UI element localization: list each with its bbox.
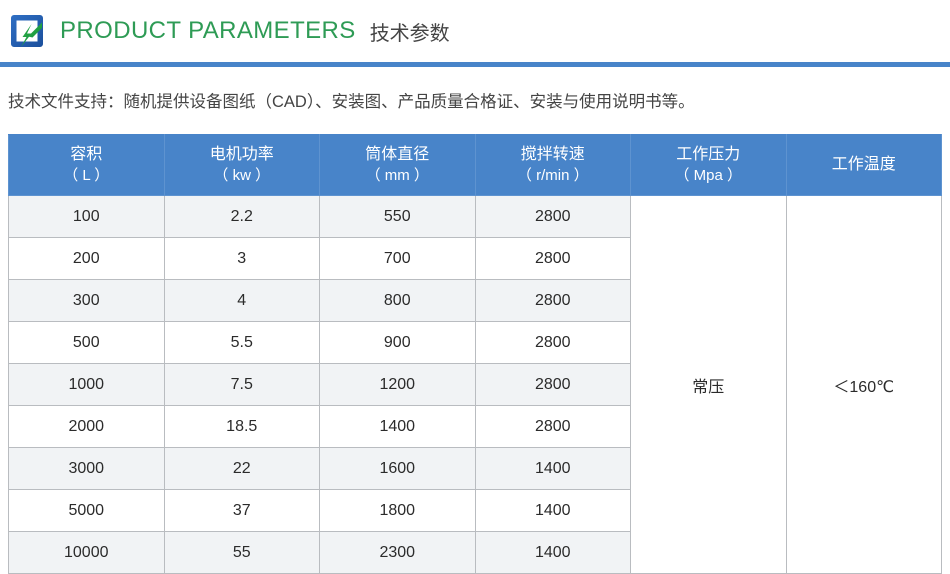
- table-body: 100 2.2 550 2800 常压 ＜160℃ 200 3 700 2800…: [9, 196, 942, 574]
- cell-stirring-speed: 1400: [475, 490, 631, 532]
- intro-description: 技术文件支持：随机提供设备图纸（CAD）、安装图、产品质量合格证、安装与使用说明…: [0, 67, 950, 114]
- cell-motor-power: 7.5: [164, 364, 320, 406]
- column-header-motor-power-unit: （ kw ）: [166, 166, 319, 186]
- cell-volume: 500: [9, 322, 165, 364]
- cell-working-pressure-merged: 常压: [631, 196, 787, 574]
- cell-motor-power: 18.5: [164, 406, 320, 448]
- cell-barrel-diameter: 1800: [320, 490, 476, 532]
- column-header-barrel-diameter-unit: （ mm ）: [321, 166, 474, 186]
- spec-table-container: 容积 （ L ） 电机功率 （ kw ） 筒体直径 （ mm ） 搅拌转速 （ …: [0, 114, 950, 574]
- table-header-row: 容积 （ L ） 电机功率 （ kw ） 筒体直径 （ mm ） 搅拌转速 （ …: [9, 135, 942, 196]
- column-header-volume-unit: （ L ）: [10, 166, 163, 186]
- column-header-working-pressure-label: 工作压力: [676, 146, 740, 163]
- cell-motor-power: 55: [164, 532, 320, 574]
- cell-motor-power: 3: [164, 238, 320, 280]
- cell-working-temperature-merged: ＜160℃: [786, 196, 942, 574]
- cell-stirring-speed: 2800: [475, 238, 631, 280]
- column-header-motor-power-label: 电机功率: [210, 146, 274, 163]
- column-header-barrel-diameter: 筒体直径 （ mm ）: [320, 135, 476, 196]
- cell-stirring-speed: 2800: [475, 406, 631, 448]
- cell-volume: 10000: [9, 532, 165, 574]
- table-row: 100 2.2 550 2800 常压 ＜160℃: [9, 196, 942, 238]
- cell-volume: 200: [9, 238, 165, 280]
- column-header-volume-label: 容积: [70, 146, 102, 163]
- cell-barrel-diameter: 550: [320, 196, 476, 238]
- cell-stirring-speed: 2800: [475, 280, 631, 322]
- cell-stirring-speed: 1400: [475, 448, 631, 490]
- cell-motor-power: 22: [164, 448, 320, 490]
- column-header-working-temperature: 工作温度: [786, 135, 942, 196]
- cell-volume: 2000: [9, 406, 165, 448]
- column-header-stirring-speed-unit: （ r/min ）: [477, 166, 630, 186]
- cell-stirring-speed: 2800: [475, 322, 631, 364]
- cell-volume: 100: [9, 196, 165, 238]
- product-parameters-table: 容积 （ L ） 电机功率 （ kw ） 筒体直径 （ mm ） 搅拌转速 （ …: [8, 134, 942, 574]
- rounded-square-lightning-logo-icon: [8, 12, 46, 50]
- table-header: 容积 （ L ） 电机功率 （ kw ） 筒体直径 （ mm ） 搅拌转速 （ …: [9, 135, 942, 196]
- cell-stirring-speed: 2800: [475, 196, 631, 238]
- page-header: PRODUCT PARAMETERS 技术参数: [0, 0, 950, 62]
- cell-barrel-diameter: 900: [320, 322, 476, 364]
- column-header-working-pressure: 工作压力 （ Mpa ）: [631, 135, 787, 196]
- cell-motor-power: 2.2: [164, 196, 320, 238]
- cell-barrel-diameter: 2300: [320, 532, 476, 574]
- cell-volume: 5000: [9, 490, 165, 532]
- cell-stirring-speed: 2800: [475, 364, 631, 406]
- page-title-en: PRODUCT PARAMETERS: [60, 17, 356, 45]
- column-header-working-pressure-unit: （ Mpa ）: [632, 166, 785, 186]
- cell-motor-power: 4: [164, 280, 320, 322]
- cell-barrel-diameter: 800: [320, 280, 476, 322]
- cell-motor-power: 5.5: [164, 322, 320, 364]
- cell-barrel-diameter: 1200: [320, 364, 476, 406]
- cell-motor-power: 37: [164, 490, 320, 532]
- cell-barrel-diameter: 1400: [320, 406, 476, 448]
- column-header-stirring-speed: 搅拌转速 （ r/min ）: [475, 135, 631, 196]
- cell-barrel-diameter: 1600: [320, 448, 476, 490]
- cell-volume: 1000: [9, 364, 165, 406]
- column-header-volume: 容积 （ L ）: [9, 135, 165, 196]
- column-header-stirring-speed-label: 搅拌转速: [521, 146, 585, 163]
- cell-volume: 300: [9, 280, 165, 322]
- column-header-barrel-diameter-label: 筒体直径: [365, 146, 429, 163]
- column-header-working-temperature-label: 工作温度: [832, 156, 896, 173]
- cell-volume: 3000: [9, 448, 165, 490]
- page-title-cn: 技术参数: [370, 17, 450, 46]
- cell-barrel-diameter: 700: [320, 238, 476, 280]
- cell-stirring-speed: 1400: [475, 532, 631, 574]
- column-header-motor-power: 电机功率 （ kw ）: [164, 135, 320, 196]
